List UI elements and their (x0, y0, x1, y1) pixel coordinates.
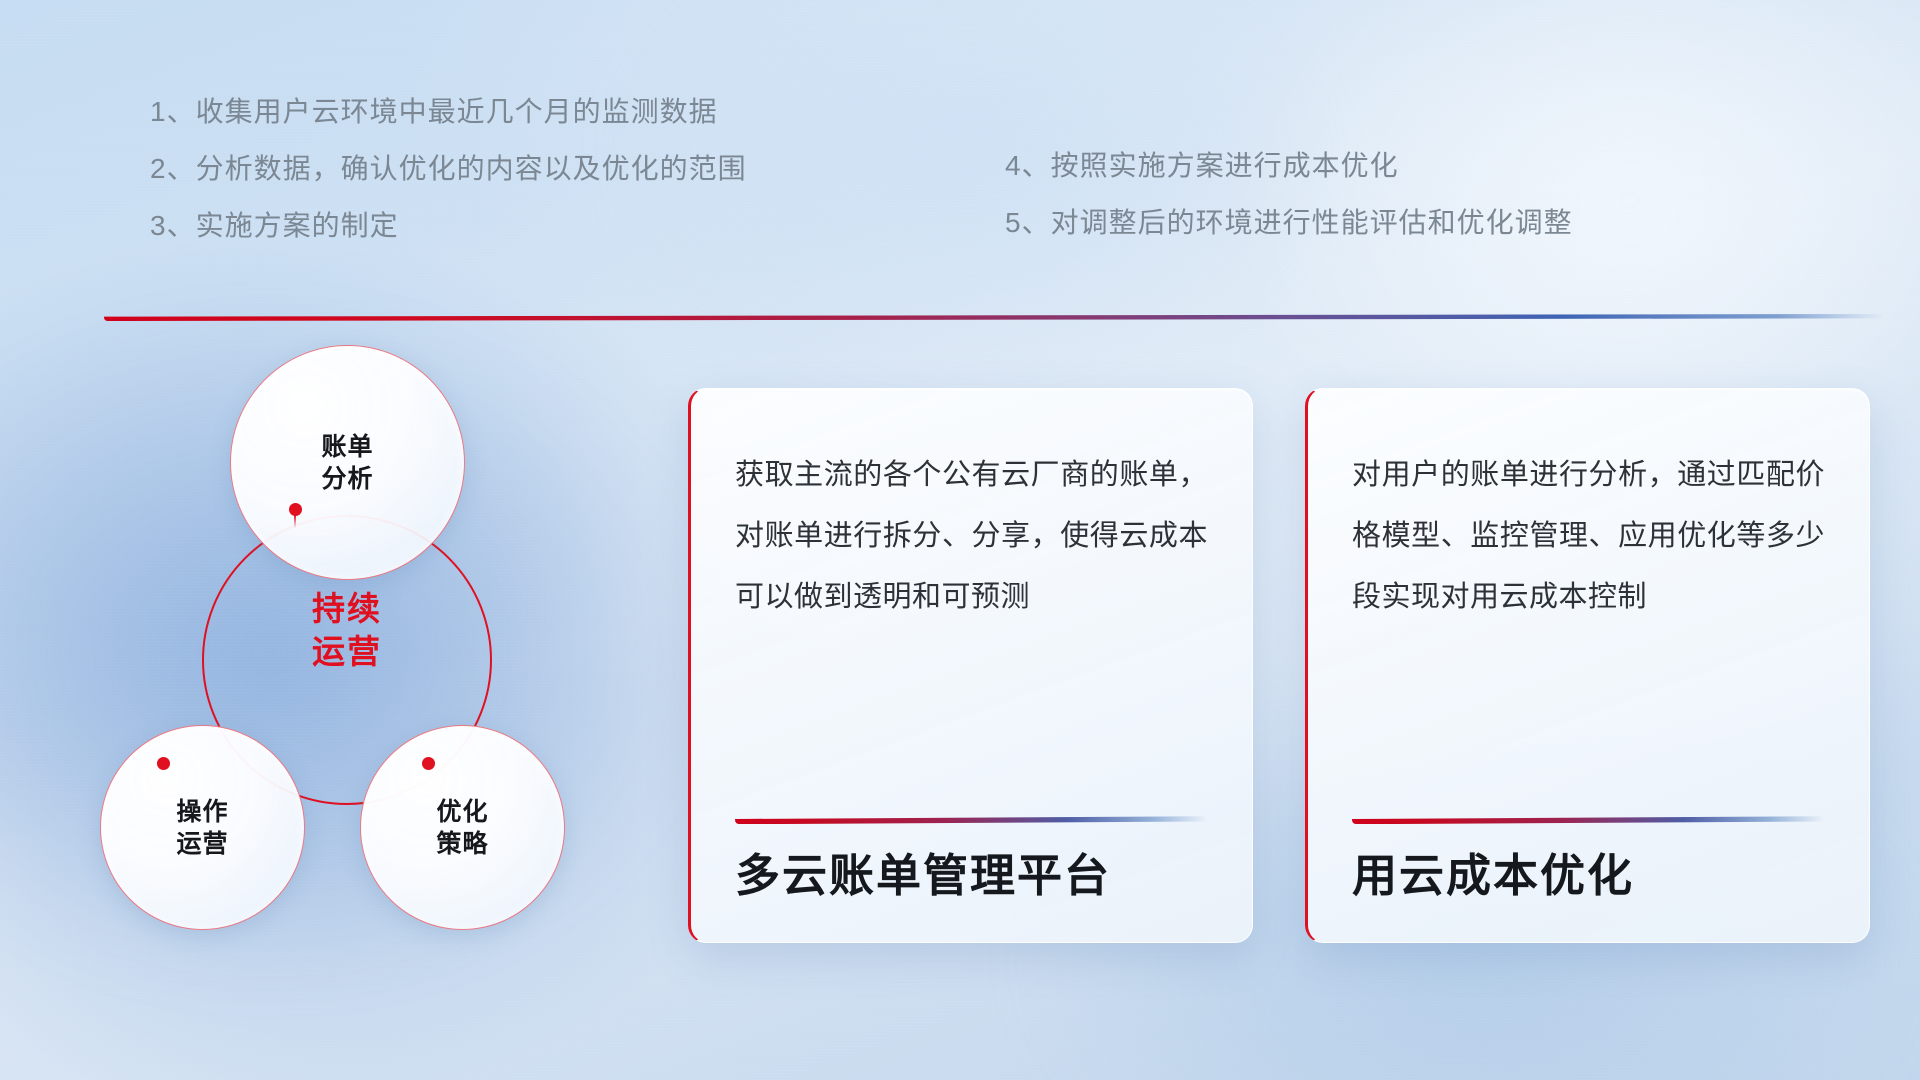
bubble-label: 操作 运营 (176, 796, 228, 860)
diagram-bubble-operations[interactable]: 操作 运营 (100, 725, 305, 930)
bubble-label-line2: 策略 (436, 828, 488, 860)
bubble-label-line1: 优化 (436, 796, 488, 828)
diagram-node-dot-top (289, 503, 302, 516)
diagram-center-label: 持续 运营 (202, 588, 492, 674)
steps-left-column: 1、收集用户云环境中最近几个月的监测数据 2、分析数据，确认优化的内容以及优化的… (150, 98, 747, 269)
center-label-line1: 持续 (202, 588, 492, 631)
bubble-label-line1: 操作 (176, 796, 228, 828)
diagram-bubble-billing-analysis[interactable]: 账单 分析 (230, 345, 465, 580)
diagram-bubble-optimization-strategy[interactable]: 优化 策略 (360, 725, 565, 930)
steps-right-column: 4、按照实施方案进行成本优化 5、对调整后的环境进行性能评估和优化调整 (1005, 152, 1573, 266)
bubble-label-line1: 账单 (321, 431, 373, 463)
steps-section: 1、收集用户云环境中最近几个月的监测数据 2、分析数据，确认优化的内容以及优化的… (0, 0, 1920, 250)
step-item: 5、对调整后的环境进行性能评估和优化调整 (1005, 209, 1573, 237)
center-label-line2: 运营 (202, 631, 492, 674)
step-item: 2、分析数据，确认优化的内容以及优化的范围 (150, 155, 747, 183)
step-item: 4、按照实施方案进行成本优化 (1005, 152, 1573, 180)
card-accent-rule (1352, 816, 1825, 824)
diagram-connector-tick (294, 515, 296, 528)
bubble-label: 账单 分析 (321, 431, 373, 495)
diagram-node-dot-bottom-right (422, 757, 435, 770)
bubble-label: 优化 策略 (436, 796, 488, 860)
diagram-node-dot-bottom-left (157, 757, 170, 770)
step-item: 3、实施方案的制定 (150, 212, 747, 240)
card-title: 用云成本优化 (1352, 850, 1825, 902)
card-accent-rule (735, 816, 1208, 824)
bubble-label-line2: 分析 (321, 463, 373, 495)
card-cloud-cost-optimization[interactable]: 对用户的账单进行分析，通过匹配价格模型、监控管理、应用优化等多少段实现对用云成本… (1305, 388, 1870, 943)
bubble-label-line2: 运营 (176, 828, 228, 860)
card-body-text: 对用户的账单进行分析，通过匹配价格模型、监控管理、应用优化等多少段实现对用云成本… (1352, 445, 1825, 628)
card-body-text: 获取主流的各个公有云厂商的账单，对账单进行拆分、分享，使得云成本可以做到透明和可… (735, 445, 1208, 628)
card-multicloud-billing-platform[interactable]: 获取主流的各个公有云厂商的账单，对账单进行拆分、分享，使得云成本可以做到透明和可… (688, 388, 1253, 943)
card-title: 多云账单管理平台 (735, 850, 1208, 902)
continuous-operation-diagram: 持续 运营 账单 分析 操作 运营 优化 策略 (95, 360, 575, 920)
step-item: 1、收集用户云环境中最近几个月的监测数据 (150, 98, 747, 126)
